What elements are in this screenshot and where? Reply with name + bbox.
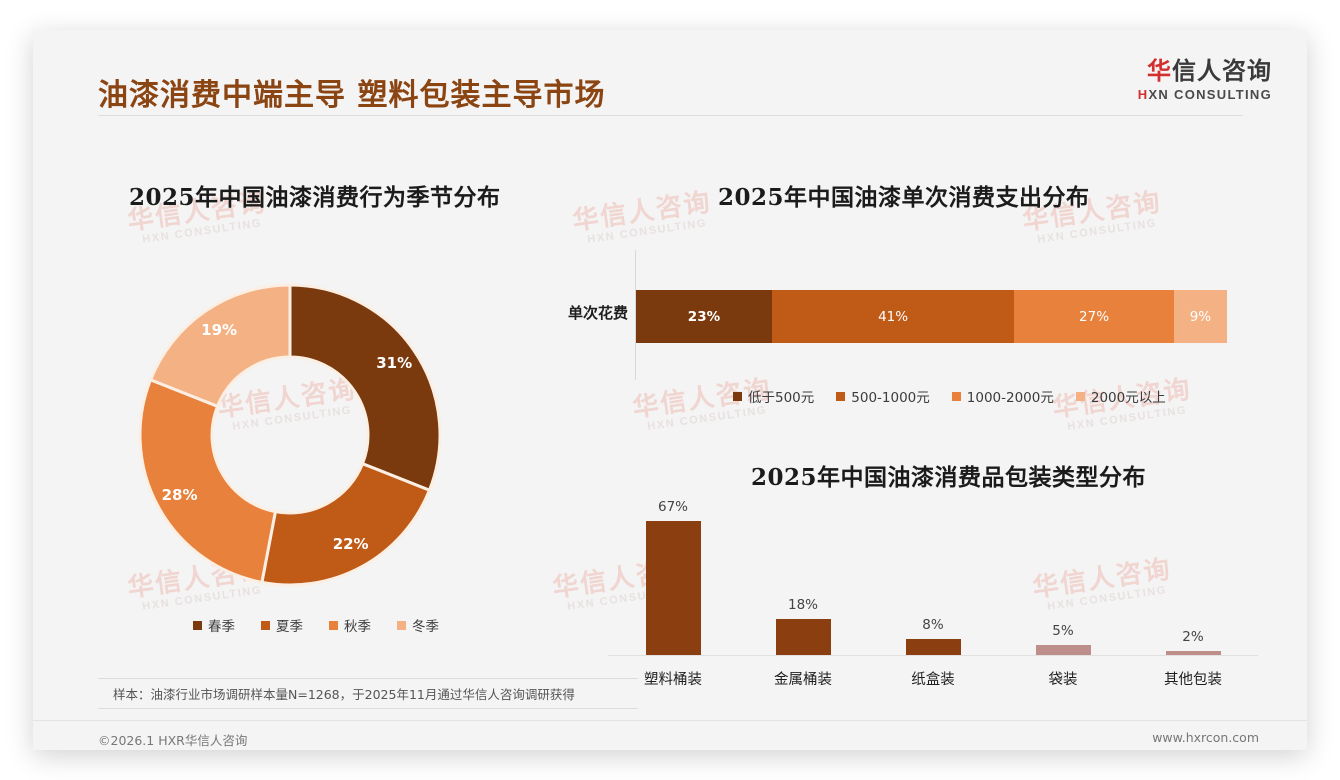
- column-category-label: 纸盒装: [868, 668, 998, 689]
- legend-label: 1000-2000元: [967, 386, 1054, 406]
- donut-slice-value: 22%: [333, 535, 369, 553]
- footnote-divider-top: [98, 678, 638, 679]
- donut-slice[interactable]: [140, 380, 275, 583]
- donut-slice-value: 19%: [201, 321, 237, 339]
- chart-spend-stacked: 2025年中国油漆单次消费支出分布 单次花费 23%41%27%9% 低于500…: [563, 150, 1307, 420]
- column-category-label: 金属桶装: [738, 668, 868, 689]
- column-value-label: 18%: [788, 597, 818, 613]
- legend-swatch-icon: [733, 392, 742, 401]
- donut-slice-value: 28%: [162, 486, 198, 504]
- legend-label: 冬季: [412, 615, 439, 635]
- column-baseline: [608, 655, 1258, 656]
- chart-title-spend: 2025年中国油漆单次消费支出分布: [718, 178, 1090, 212]
- logo-english: HXN CONSULTING: [1138, 87, 1272, 102]
- column-group: 5%: [1036, 623, 1091, 655]
- column-value-label: 8%: [922, 617, 943, 633]
- title-divider: [98, 115, 1243, 116]
- legend-swatch-icon: [952, 392, 961, 401]
- chart-title-package: 2025年中国油漆消费品包装类型分布: [751, 458, 1146, 492]
- legend-label: 秋季: [344, 615, 371, 635]
- logo-english-rest: XN CONSULTING: [1148, 87, 1272, 102]
- legend-label: 500-1000元: [851, 386, 930, 406]
- page-title: 油漆消费中端主导 塑料包装主导市场: [98, 70, 605, 114]
- legend-item[interactable]: 春季: [193, 615, 235, 635]
- column-group: 18%: [776, 597, 831, 655]
- chart-package-column: 2025年中国油漆消费品包装类型分布 67%18%8%5%2% 塑料桶装金属桶装…: [563, 440, 1307, 700]
- legend-swatch-icon: [329, 621, 338, 630]
- slide-header: 油漆消费中端主导 塑料包装主导市场 华信人咨询 HXN CONSULTING: [33, 30, 1307, 128]
- donut-slice-value: 31%: [376, 354, 412, 372]
- legend-label: 低于500元: [748, 386, 814, 406]
- logo-chinese-rest: 信人咨询: [1172, 57, 1272, 85]
- legend-label: 春季: [208, 615, 235, 635]
- footer-website: www.hxrcon.com: [1152, 730, 1259, 745]
- donut-slice[interactable]: [290, 285, 440, 490]
- donut-graphic: 31%22%28%19%: [125, 270, 455, 600]
- legend-swatch-icon: [1076, 392, 1085, 401]
- legend-item[interactable]: 秋季: [329, 615, 371, 635]
- legend-item[interactable]: 夏季: [261, 615, 303, 635]
- column-bar[interactable]: [1036, 645, 1091, 655]
- legend-swatch-icon: [836, 392, 845, 401]
- legend-season: 春季夏季秋季冬季: [193, 615, 439, 635]
- column-bar[interactable]: [906, 639, 961, 655]
- stacked-bar: 23%41%27%9%: [636, 290, 1227, 343]
- column-group: 8%: [906, 617, 961, 655]
- logo-english-red: H: [1138, 87, 1149, 102]
- column-bar[interactable]: [646, 521, 701, 655]
- column-category-label: 其他包装: [1128, 668, 1258, 689]
- legend-item[interactable]: 2000元以上: [1076, 386, 1166, 406]
- chart-title-season: 2025年中国油漆消费行为季节分布: [129, 178, 501, 212]
- legend-item[interactable]: 1000-2000元: [952, 386, 1054, 406]
- stacked-category-label: 单次花费: [523, 302, 628, 323]
- legend-item[interactable]: 低于500元: [733, 386, 814, 406]
- column-category-label: 袋装: [998, 668, 1128, 689]
- column-plot-area: 67%18%8%5%2%: [608, 515, 1258, 655]
- footer-copyright: ©2026.1 HXR华信人咨询: [98, 730, 247, 749]
- footer-divider: [33, 720, 1307, 721]
- footnote-divider-bottom: [98, 708, 638, 709]
- column-bar[interactable]: [776, 619, 831, 655]
- slide-card: 油漆消费中端主导 塑料包装主导市场 华信人咨询 HXN CONSULTING 华…: [33, 30, 1307, 750]
- column-group: 2%: [1166, 629, 1221, 655]
- chart-season-donut: 2025年中国油漆消费行为季节分布 31%22%28%19% 春季夏季秋季冬季: [33, 150, 563, 670]
- legend-label: 夏季: [276, 615, 303, 635]
- legend-label: 2000元以上: [1091, 386, 1166, 406]
- company-logo: 华信人咨询 HXN CONSULTING: [1138, 58, 1272, 102]
- logo-chinese-red: 华: [1147, 57, 1172, 85]
- legend-item[interactable]: 500-1000元: [836, 386, 930, 406]
- stacked-segment[interactable]: 9%: [1174, 290, 1227, 343]
- column-value-label: 5%: [1052, 623, 1073, 639]
- column-value-label: 2%: [1182, 629, 1203, 645]
- stacked-segment[interactable]: 41%: [772, 290, 1014, 343]
- donut-slice[interactable]: [262, 464, 430, 585]
- column-value-label: 67%: [658, 499, 688, 515]
- column-group: 67%: [646, 499, 701, 655]
- legend-swatch-icon: [261, 621, 270, 630]
- legend-item[interactable]: 冬季: [397, 615, 439, 635]
- legend-spend: 低于500元500-1000元1000-2000元2000元以上: [733, 386, 1166, 406]
- donut-svg: [125, 270, 455, 600]
- donut-slice[interactable]: [151, 285, 290, 406]
- stacked-segment[interactable]: 27%: [1014, 290, 1174, 343]
- logo-chinese: 华信人咨询: [1138, 58, 1272, 84]
- stacked-segment[interactable]: 23%: [636, 290, 772, 343]
- legend-swatch-icon: [193, 621, 202, 630]
- legend-swatch-icon: [397, 621, 406, 630]
- footnote: 样本：油漆行业市场调研样本量N=1268，于2025年11月通过华信人咨询调研获…: [113, 684, 575, 703]
